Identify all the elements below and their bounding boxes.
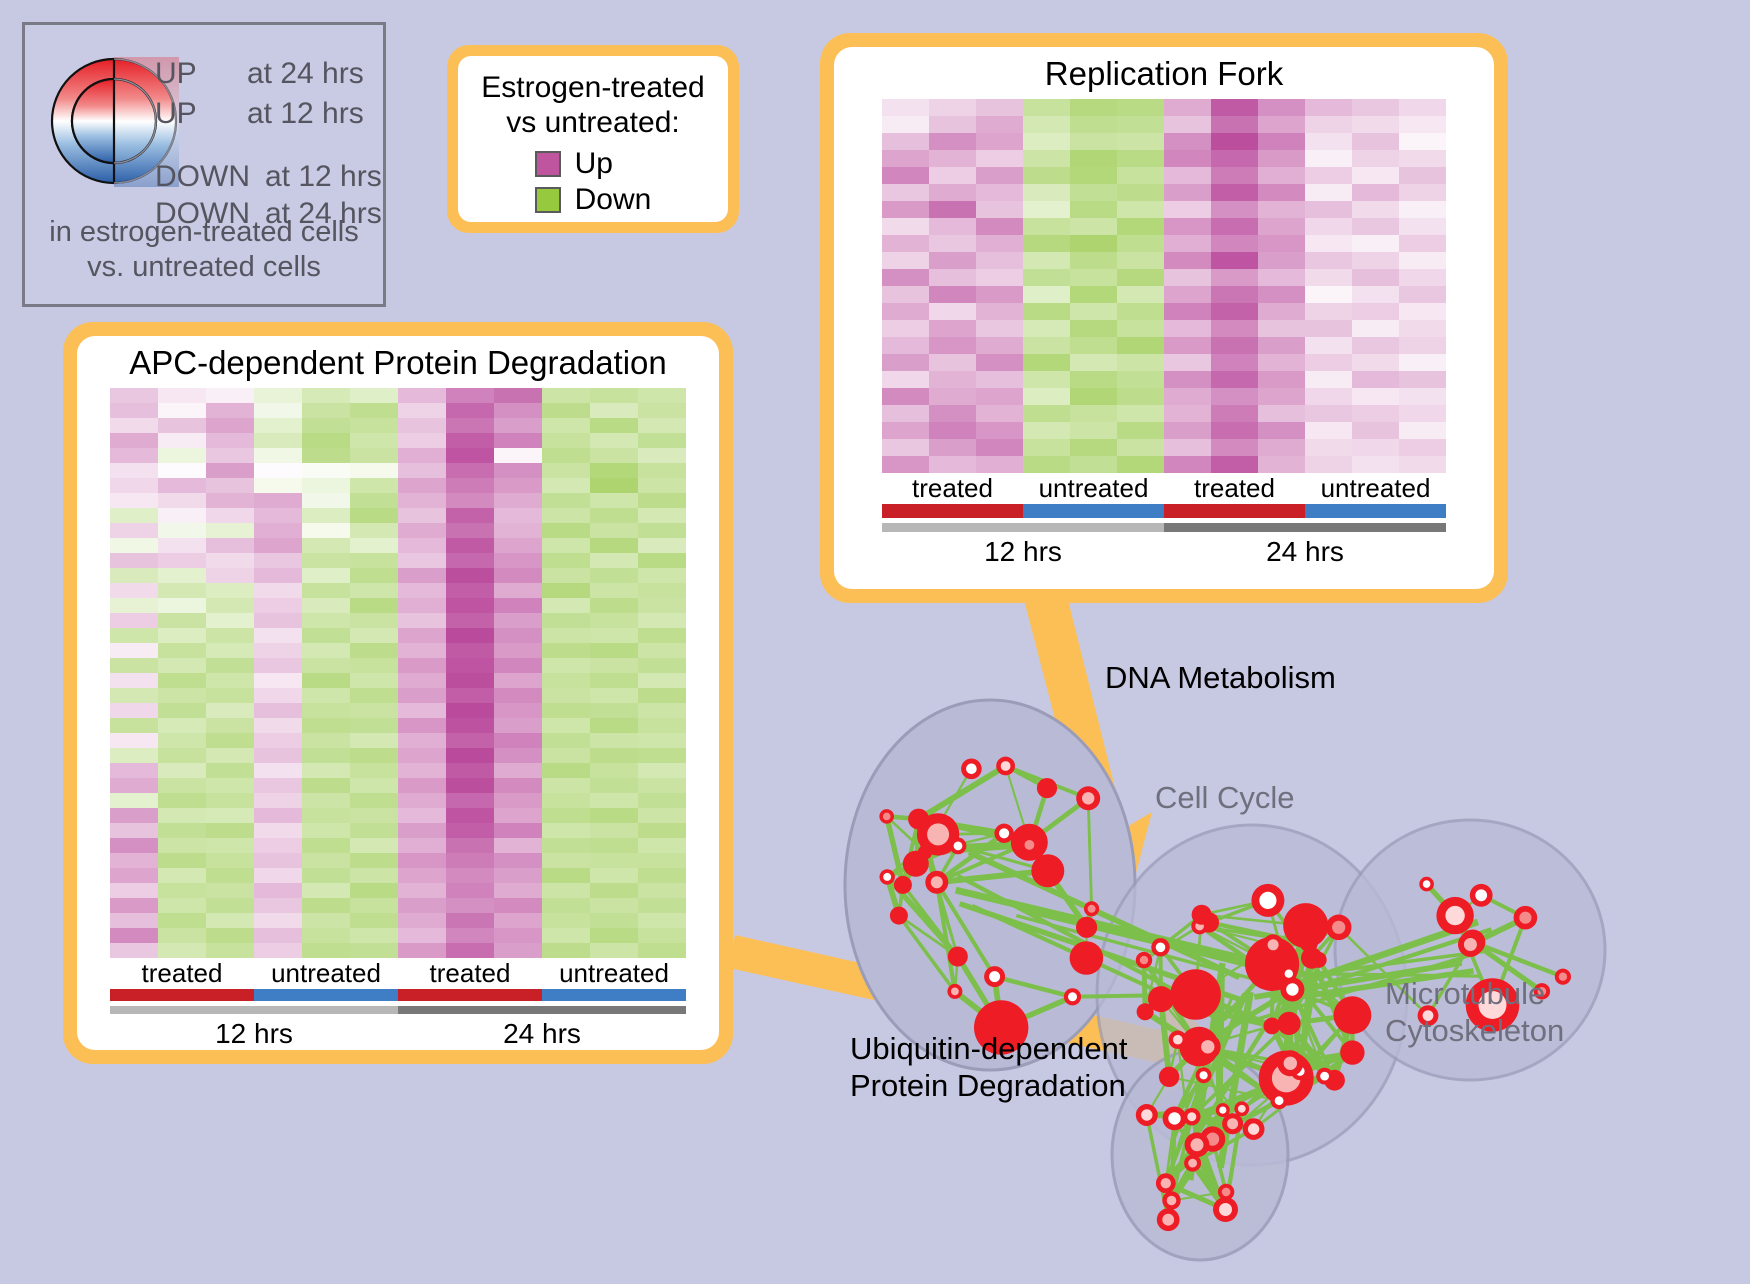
heat-cell (206, 853, 254, 868)
network-node[interactable] (908, 809, 929, 830)
heat-cell (494, 598, 542, 613)
heat-cell (350, 928, 398, 943)
network-node[interactable] (1136, 1104, 1158, 1126)
heat-cell (1117, 252, 1164, 269)
network-node[interactable] (1162, 1191, 1180, 1209)
heat-cell (590, 418, 638, 433)
network-node[interactable] (1311, 952, 1327, 968)
heat-cell (446, 433, 494, 448)
heat-cell (158, 613, 206, 628)
heat-cell (350, 718, 398, 733)
heat-cell (302, 673, 350, 688)
heat-cell (206, 823, 254, 838)
heat-cell (929, 269, 976, 286)
heat-cell (446, 538, 494, 553)
network-node[interactable] (1277, 1012, 1300, 1035)
heat-cell (206, 403, 254, 418)
heat-cell (882, 303, 929, 320)
heat-cell (158, 508, 206, 523)
heat-cell (1211, 133, 1258, 150)
heat-cell (1117, 405, 1164, 422)
heat-cell (590, 748, 638, 763)
network-node[interactable] (961, 759, 982, 780)
heat-cell (590, 403, 638, 418)
heat-cell (494, 403, 542, 418)
key-time-down-12: at 12 hrs (265, 160, 382, 194)
heat-cell (446, 838, 494, 853)
heat-cell (398, 433, 446, 448)
heat-cell (929, 303, 976, 320)
heat-cell (638, 673, 686, 688)
heat-cell (882, 371, 929, 388)
heat-cell (590, 883, 638, 898)
heat-cell (350, 418, 398, 433)
heat-cell (206, 868, 254, 883)
heat-cell (158, 853, 206, 868)
network-node[interactable] (1216, 1103, 1230, 1117)
heat-cell (1070, 388, 1117, 405)
heat-cell (494, 853, 542, 868)
heat-cell (542, 793, 590, 808)
heat-cell (1305, 422, 1352, 439)
heat-cell (494, 418, 542, 433)
heat-cell (398, 838, 446, 853)
heat-cell (1164, 252, 1211, 269)
network-node[interactable] (1458, 932, 1483, 957)
network-node[interactable] (1196, 1067, 1212, 1083)
heat-cell (254, 538, 302, 553)
heat-cell (446, 658, 494, 673)
heat-cell (1258, 456, 1305, 473)
heat-cell (158, 598, 206, 613)
heat-cell (1399, 320, 1446, 337)
network-node[interactable] (1281, 966, 1297, 982)
heat-cell (302, 433, 350, 448)
heat-cell (158, 418, 206, 433)
heat-cell (350, 433, 398, 448)
heat-cell (929, 422, 976, 439)
heat-cell (542, 583, 590, 598)
panel-title-apc: APC-dependent Protein Degradation (129, 344, 667, 382)
network-node[interactable] (1271, 1092, 1288, 1109)
heat-cell (110, 793, 158, 808)
network-node[interactable] (880, 869, 895, 884)
heat-cell (542, 733, 590, 748)
network-node[interactable] (1192, 905, 1212, 925)
heat-cell (350, 388, 398, 403)
heat-cell (1070, 439, 1117, 456)
heat-cell (590, 928, 638, 943)
condition-label: treated (882, 473, 1023, 504)
network-node[interactable] (1151, 938, 1169, 956)
heat-cell (1070, 167, 1117, 184)
heat-cell (929, 337, 976, 354)
heat-cell (110, 748, 158, 763)
network-node[interactable] (1340, 1040, 1364, 1064)
network-node[interactable] (984, 966, 1005, 987)
network-node[interactable] (996, 757, 1015, 776)
heat-cell (302, 643, 350, 658)
heat-cell (638, 658, 686, 673)
heat-cell (1211, 167, 1258, 184)
heat-cell (1258, 184, 1305, 201)
heat-cell (590, 778, 638, 793)
network-node[interactable] (950, 838, 967, 855)
condition-labels-apc: treateduntreatedtreateduntreated (110, 958, 686, 989)
heat-cell (494, 538, 542, 553)
heat-cell (1399, 218, 1446, 235)
heat-cell (1211, 303, 1258, 320)
panel-replication-fork: Replication Fork treateduntreatedtreated… (820, 33, 1508, 603)
heat-cell (638, 403, 686, 418)
heat-cell (638, 748, 686, 763)
heat-cell (158, 688, 206, 703)
heat-cell (1399, 286, 1446, 303)
key-word-up-24: UP (155, 57, 197, 91)
heat-cell (350, 778, 398, 793)
heat-cell (976, 439, 1023, 456)
network-node[interactable] (1470, 884, 1493, 907)
heat-cell (542, 778, 590, 793)
heat-cell (1305, 167, 1352, 184)
heat-cell (1352, 354, 1399, 371)
heat-cell (398, 613, 446, 628)
heat-cell (110, 943, 158, 958)
network-node[interactable] (1277, 1050, 1303, 1076)
heat-cell (398, 883, 446, 898)
heat-cell (494, 508, 542, 523)
heat-cell (1070, 150, 1117, 167)
heat-cell (1164, 354, 1211, 371)
heat-cell (350, 583, 398, 598)
network-node[interactable] (1514, 906, 1538, 930)
network-node[interactable] (1156, 1173, 1176, 1193)
heat-cell (1164, 184, 1211, 201)
heat-cell (206, 388, 254, 403)
heat-cell (1258, 235, 1305, 252)
network-node[interactable] (1251, 884, 1284, 917)
condition-label: untreated (542, 958, 686, 989)
network-node[interactable] (1170, 969, 1221, 1020)
heat-cell (110, 838, 158, 853)
heat-cell (206, 808, 254, 823)
up-down-legend: Estrogen-treated vs untreated: Up Down (447, 45, 739, 233)
heat-cell (206, 508, 254, 523)
heat-cell (542, 673, 590, 688)
heat-cell (1023, 184, 1070, 201)
network-node[interactable] (1136, 952, 1152, 968)
heat-cell (302, 808, 350, 823)
heat-cell (1258, 133, 1305, 150)
heat-cell (542, 898, 590, 913)
network-node[interactable] (1234, 1101, 1249, 1116)
network-node[interactable] (994, 824, 1013, 843)
heat-cell (302, 763, 350, 778)
heat-cell (446, 733, 494, 748)
heat-cell (1117, 320, 1164, 337)
network-node[interactable] (1300, 935, 1318, 953)
heat-cell (350, 733, 398, 748)
heat-cell (1117, 354, 1164, 371)
heat-cell (542, 943, 590, 958)
heat-cell (1023, 133, 1070, 150)
network-svg (800, 600, 1750, 1279)
network-node[interactable] (1137, 1003, 1154, 1020)
cluster-label-protein-degradation: Protein Degradation (850, 1067, 1128, 1104)
network-node[interactable] (948, 947, 968, 967)
heat-cell (1305, 286, 1352, 303)
heat-cell (1258, 99, 1305, 116)
heat-cell (206, 793, 254, 808)
heat-cell (638, 538, 686, 553)
heat-cell (1258, 116, 1305, 133)
heat-cell (350, 478, 398, 493)
heat-cell (494, 448, 542, 463)
heat-cell (494, 673, 542, 688)
heat-cell (1352, 99, 1399, 116)
network-node[interactable] (925, 871, 948, 894)
heat-cell (1117, 150, 1164, 167)
network-node[interactable] (947, 984, 962, 999)
network-node[interactable] (1169, 1031, 1187, 1049)
network-node[interactable] (1243, 1118, 1265, 1140)
network-node[interactable] (1195, 1034, 1221, 1060)
network-node[interactable] (1218, 1184, 1234, 1200)
heat-cell (929, 456, 976, 473)
heat-cell (446, 883, 494, 898)
heat-cell (254, 928, 302, 943)
heat-cell (206, 673, 254, 688)
heat-cell (158, 523, 206, 538)
condition-label: untreated (254, 958, 398, 989)
heat-cell (638, 718, 686, 733)
network-node[interactable] (879, 809, 894, 824)
heat-cell (110, 433, 158, 448)
heat-cell (1070, 116, 1117, 133)
heat-cell (110, 523, 158, 538)
heat-cell (1164, 99, 1211, 116)
heat-cell (302, 688, 350, 703)
heat-cell (398, 718, 446, 733)
heat-cell (254, 808, 302, 823)
heat-cell (350, 463, 398, 478)
heat-cell (1070, 371, 1117, 388)
network-node[interactable] (1213, 1197, 1238, 1222)
heat-cell (494, 583, 542, 598)
network-node[interactable] (1157, 1208, 1180, 1231)
heat-cell (398, 748, 446, 763)
heat-cell (1399, 354, 1446, 371)
condition-label: untreated (1305, 473, 1446, 504)
heat-cell (1164, 388, 1211, 405)
network-node[interactable] (1159, 1067, 1179, 1087)
network-node[interactable] (1419, 877, 1434, 892)
heat-cell (158, 778, 206, 793)
heat-cell (206, 763, 254, 778)
heat-cell (446, 718, 494, 733)
heat-cell (638, 463, 686, 478)
heat-cell (1070, 337, 1117, 354)
cluster-label-microtubule: Microtubule (1385, 975, 1564, 1012)
heat-cell (1070, 218, 1117, 235)
heat-cell (254, 733, 302, 748)
heat-cell (590, 823, 638, 838)
heat-cell (1023, 354, 1070, 371)
heat-cell (398, 403, 446, 418)
condition-label: treated (398, 958, 542, 989)
heat-cell (206, 643, 254, 658)
heat-cell (976, 337, 1023, 354)
network-node[interactable] (1436, 897, 1473, 934)
heat-cell (1164, 150, 1211, 167)
heat-cell (206, 778, 254, 793)
heat-cell (206, 748, 254, 763)
heat-cell (1211, 235, 1258, 252)
heat-cell (254, 643, 302, 658)
cluster-label-dna-metabolism: DNA Metabolism (1105, 660, 1336, 696)
heat-cell (590, 718, 638, 733)
heat-cell (1117, 235, 1164, 252)
heat-cell (1211, 405, 1258, 422)
heat-cell (494, 748, 542, 763)
heat-cell (350, 943, 398, 958)
heat-cell (206, 538, 254, 553)
heat-cell (1117, 218, 1164, 235)
heat-cell (976, 286, 1023, 303)
network-node[interactable] (894, 876, 912, 894)
heat-cell (1117, 116, 1164, 133)
heat-cell (206, 898, 254, 913)
heat-cell (1399, 150, 1446, 167)
network-node[interactable] (1326, 915, 1352, 941)
network-node[interactable] (1334, 996, 1372, 1034)
heat-cell (158, 463, 206, 478)
heat-cell (494, 433, 542, 448)
network-node[interactable] (890, 907, 908, 925)
network-node[interactable] (1263, 934, 1284, 955)
condition-bar-segment (1164, 504, 1305, 518)
heat-cell (1070, 286, 1117, 303)
heat-cell (110, 853, 158, 868)
time-bar-segment (1164, 523, 1446, 532)
heat-cell (254, 703, 302, 718)
network-node[interactable] (1076, 917, 1097, 938)
network-node[interactable] (903, 851, 929, 877)
heat-cell (1399, 422, 1446, 439)
heat-cell (110, 688, 158, 703)
heat-cell (882, 201, 929, 218)
heat-cell (398, 808, 446, 823)
heat-cell (590, 673, 638, 688)
heat-cell (254, 793, 302, 808)
network-node[interactable] (1037, 778, 1057, 798)
heat-cell (158, 538, 206, 553)
network-node[interactable] (1084, 901, 1099, 916)
heat-cell (158, 733, 206, 748)
network-node[interactable] (1076, 786, 1100, 810)
heat-cell (1117, 167, 1164, 184)
heat-cell (494, 793, 542, 808)
heat-cell (302, 538, 350, 553)
heat-cell (254, 853, 302, 868)
network-node[interactable] (1280, 978, 1304, 1002)
network-edge (1218, 1021, 1221, 1138)
network-node[interactable] (1316, 1068, 1333, 1085)
heat-cell (1399, 167, 1446, 184)
network-node[interactable] (1020, 836, 1039, 855)
heat-cell (398, 658, 446, 673)
heat-cell (1305, 116, 1352, 133)
heat-cell (1211, 456, 1258, 473)
heat-cell (206, 598, 254, 613)
heat-cell (638, 703, 686, 718)
heat-cell (350, 853, 398, 868)
network-node[interactable] (1070, 941, 1104, 975)
network-node[interactable] (1064, 988, 1081, 1005)
heat-cell (158, 493, 206, 508)
heat-cell (1352, 320, 1399, 337)
heat-cell (1305, 405, 1352, 422)
key-time-up-12: at 12 hrs (247, 97, 364, 131)
heat-cell (446, 943, 494, 958)
heat-cell (206, 628, 254, 643)
heat-cell (1399, 184, 1446, 201)
heat-cell (398, 628, 446, 643)
heat-cell (206, 703, 254, 718)
heat-cell (1023, 439, 1070, 456)
heat-cell (542, 658, 590, 673)
heat-cell (398, 793, 446, 808)
heat-cell (398, 763, 446, 778)
network-node[interactable] (1163, 1107, 1187, 1131)
heat-cell (976, 218, 1023, 235)
heat-cell (638, 778, 686, 793)
up-color-swatch (535, 151, 561, 177)
heat-cell (494, 898, 542, 913)
heat-cell (158, 808, 206, 823)
network-node[interactable] (1185, 1132, 1210, 1157)
heat-cell (494, 778, 542, 793)
heat-cell (1117, 201, 1164, 218)
heat-cell (882, 252, 929, 269)
heat-cell (542, 628, 590, 643)
heat-cell (494, 883, 542, 898)
heat-cell (1258, 201, 1305, 218)
heat-cell (1211, 252, 1258, 269)
heat-cell (398, 418, 446, 433)
heat-cell (929, 184, 976, 201)
network-node[interactable] (1184, 1155, 1201, 1172)
heat-cell (976, 116, 1023, 133)
heat-cell (1305, 252, 1352, 269)
heat-cell (254, 433, 302, 448)
heat-cell (590, 763, 638, 778)
heat-cell (976, 371, 1023, 388)
heat-cell (110, 463, 158, 478)
heat-cell (302, 718, 350, 733)
heat-cell (590, 643, 638, 658)
legend-label-up: Up (575, 147, 613, 181)
heat-cell (110, 613, 158, 628)
heat-cell (638, 433, 686, 448)
heat-cell (446, 868, 494, 883)
heat-cell (494, 658, 542, 673)
heat-cell (976, 252, 1023, 269)
heat-cell (254, 883, 302, 898)
heat-cell (494, 613, 542, 628)
heat-cell (929, 354, 976, 371)
heat-cell (1258, 252, 1305, 269)
